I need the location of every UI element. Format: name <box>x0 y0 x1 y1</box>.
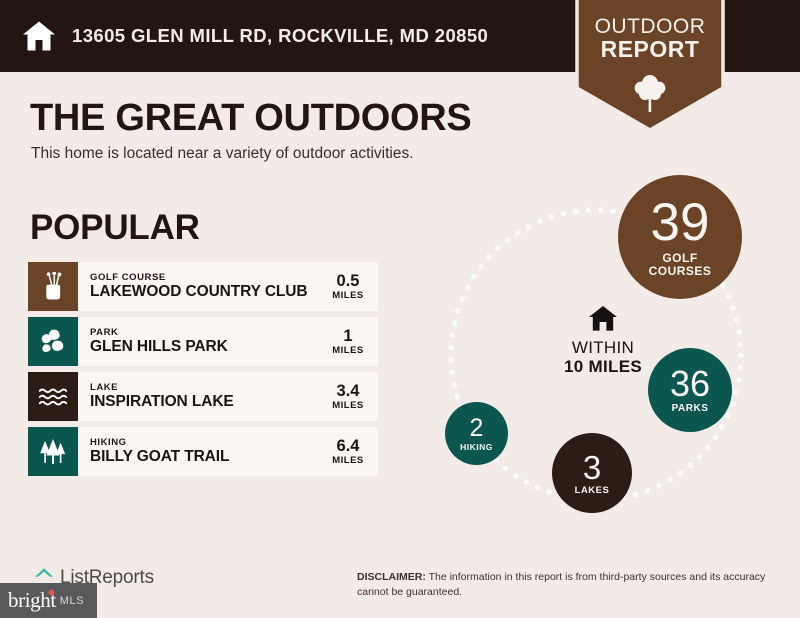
badge-title-line1: OUTDOOR <box>572 16 728 38</box>
bubble-label: LAKES <box>575 486 610 496</box>
list-item[interactable]: HIKING BILLY GOAT TRAIL 6.4 MILES <box>28 427 378 476</box>
disclaimer-label: DISCLAIMER: <box>357 571 426 583</box>
distance-unit: MILES <box>328 401 368 411</box>
bubble-label: PARKS <box>672 404 709 414</box>
distance-unit: MILES <box>328 346 368 356</box>
page-title: THE GREAT OUTDOORS <box>30 97 471 140</box>
home-icon <box>22 20 56 52</box>
list-item-texts: GOLF COURSE LAKEWOOD COUNTRY CLUB <box>90 273 307 300</box>
bubble-label: GOLF COURSES <box>649 252 712 279</box>
bubble-label: HIKING <box>460 443 493 452</box>
center-label-line1: WITHIN <box>528 338 678 357</box>
list-item[interactable]: LAKE INSPIRATION LAKE 3.4 MILES <box>28 372 378 421</box>
list-item-name: BILLY GOAT TRAIL <box>90 449 229 465</box>
list-item-texts: LAKE INSPIRATION LAKE <box>90 383 234 410</box>
bubble-value: 39 <box>651 196 710 249</box>
list-item[interactable]: PARK GLEN HILLS PARK 1 MILES <box>28 317 378 366</box>
bubble-label-line1: GOLF <box>662 251 697 265</box>
bubble-golf-courses[interactable]: 39 GOLF COURSES <box>618 175 742 299</box>
distance-value: 1 <box>328 328 368 345</box>
list-item-name: LAKEWOOD COUNTRY CLUB <box>90 284 307 300</box>
bubble-value: 3 <box>583 451 601 484</box>
bubble-value: 2 <box>470 416 484 441</box>
bubble-hiking[interactable]: 2 HIKING <box>445 402 508 465</box>
list-item-texts: PARK GLEN HILLS PARK <box>90 328 228 355</box>
property-address: 13605 GLEN MILL RD, ROCKVILLE, MD 20850 <box>72 25 488 47</box>
list-item-name: INSPIRATION LAKE <box>90 394 234 410</box>
page-subtitle: This home is located near a variety of o… <box>31 145 414 163</box>
list-item-category: GOLF COURSE <box>90 273 307 283</box>
chart-center-marker: WITHIN 10 MILES <box>528 305 678 376</box>
leaves-icon <box>28 317 78 366</box>
list-item-texts: HIKING BILLY GOAT TRAIL <box>90 438 229 465</box>
header-content: 13605 GLEN MILL RD, ROCKVILLE, MD 20850 <box>22 0 488 72</box>
center-label-line2: 10 MILES <box>528 357 678 376</box>
waves-icon <box>28 372 78 421</box>
disclaimer: DISCLAIMER: The information in this repo… <box>357 570 777 600</box>
distance-value: 6.4 <box>328 438 368 455</box>
bright-mls-watermark: bright MLS <box>0 583 97 618</box>
distance-value: 3.4 <box>328 383 368 400</box>
distance-unit: MILES <box>328 291 368 301</box>
list-item-distance: 6.4 MILES <box>328 438 368 466</box>
list-item-body: GOLF COURSE LAKEWOOD COUNTRY CLUB 0.5 MI… <box>78 262 378 311</box>
bubble-lakes[interactable]: 3 LAKES <box>552 433 632 513</box>
distance-unit: MILES <box>328 456 368 466</box>
list-item-category: LAKE <box>90 383 234 393</box>
outdoor-report-badge: OUTDOOR REPORT <box>572 0 728 135</box>
list-item-body: PARK GLEN HILLS PARK 1 MILES <box>78 317 378 366</box>
bright-mls-brand: bright <box>8 588 56 613</box>
list-item[interactable]: GOLF COURSE LAKEWOOD COUNTRY CLUB 0.5 MI… <box>28 262 378 311</box>
list-item-distance: 3.4 MILES <box>328 383 368 411</box>
list-item-body: LAKE INSPIRATION LAKE 3.4 MILES <box>78 372 378 421</box>
badge-title-line2: REPORT <box>572 38 728 62</box>
list-item-distance: 0.5 MILES <box>328 273 368 301</box>
home-icon <box>528 305 678 332</box>
golf-bag-icon <box>28 262 78 311</box>
amenity-bubble-chart: 39 GOLF COURSES 36 PARKS 3 LAKES 2 HIKIN… <box>400 165 800 540</box>
list-item-category: HIKING <box>90 438 229 448</box>
distance-value: 0.5 <box>328 273 368 290</box>
list-item-name: GLEN HILLS PARK <box>90 339 228 355</box>
list-item-distance: 1 MILES <box>328 328 368 356</box>
list-item-category: PARK <box>90 328 228 338</box>
bright-mls-suffix: MLS <box>60 595 84 607</box>
trees-icon <box>28 427 78 476</box>
badge-title: OUTDOOR REPORT <box>572 16 728 62</box>
tree-icon <box>634 73 666 113</box>
list-item-body: HIKING BILLY GOAT TRAIL 6.4 MILES <box>78 427 378 476</box>
bubble-label-line2: COURSES <box>649 264 712 278</box>
popular-section-heading: POPULAR <box>30 208 200 248</box>
popular-list: GOLF COURSE LAKEWOOD COUNTRY CLUB 0.5 MI… <box>28 262 378 482</box>
